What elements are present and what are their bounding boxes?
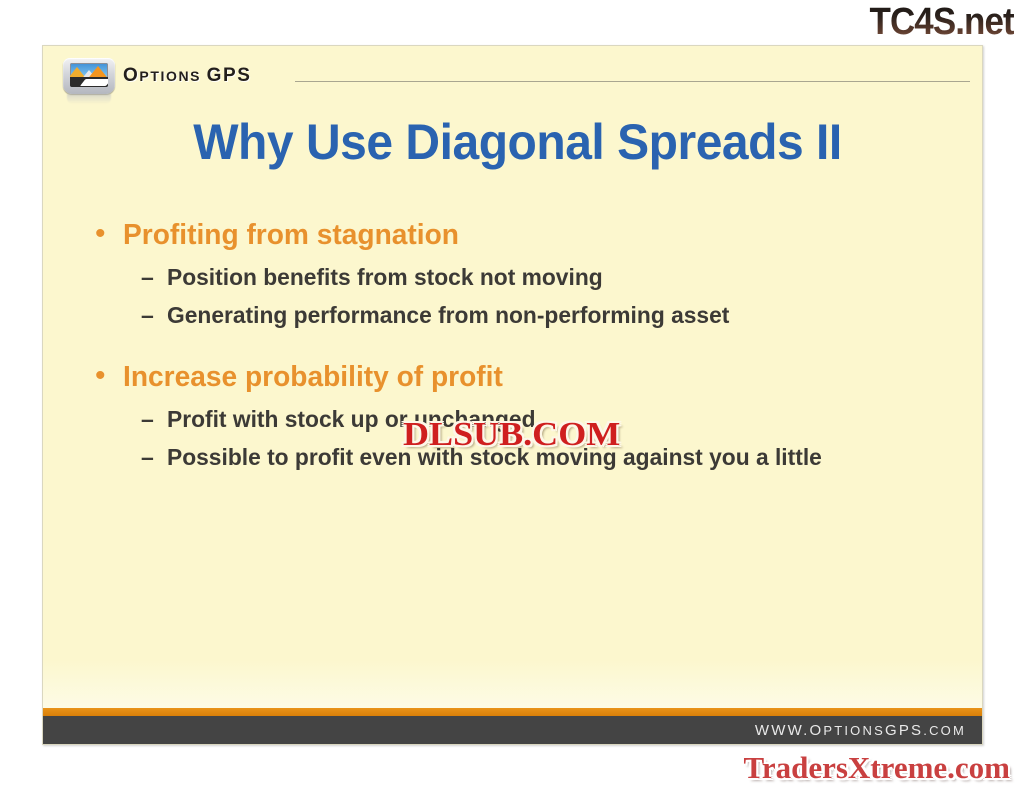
sub-bullet-label: Generating performance from non-performi…	[167, 298, 729, 332]
bullet-label: Increase probability of profit	[123, 358, 503, 396]
gps-device-icon	[63, 58, 115, 98]
bullet-label: Profiting from stagnation	[123, 216, 459, 254]
footer-url-com: COM	[929, 723, 966, 738]
bullet-marker-icon: •	[95, 216, 123, 252]
bullet-item-level2: – Position benefits from stock not movin…	[141, 260, 952, 294]
bullet-group: • Profiting from stagnation – Position b…	[95, 216, 952, 332]
footer-url-rest: PTIONS	[823, 723, 885, 738]
slide-header: OPTIONS GPS	[43, 46, 982, 104]
dash-marker-icon: –	[141, 402, 167, 436]
footer-url: WWW.OPTIONSGPS.COM	[755, 722, 966, 739]
footer-url-lead: WWW.	[755, 722, 810, 739]
slide-footer: WWW.OPTIONSGPS.COM	[43, 716, 982, 745]
tradersxtreme-watermark: TradersXtreme.com	[743, 751, 1010, 785]
footer-url-mid: O	[809, 722, 823, 739]
bullet-item-level1: • Increase probability of profit	[95, 358, 952, 396]
dlsub-watermark: DLSUB.COM	[403, 418, 620, 452]
footer-url-gps: GPS	[885, 722, 923, 739]
tc4s-watermark: TC4S.net	[870, 2, 1014, 42]
logo-reflection	[67, 94, 111, 104]
bullet-marker-icon: •	[95, 358, 123, 394]
dash-marker-icon: –	[141, 440, 167, 474]
bullet-item-level2: – Generating performance from non-perfor…	[141, 298, 952, 332]
bullet-item-level1: • Profiting from stagnation	[95, 216, 952, 254]
accent-bar	[43, 708, 982, 716]
brand-name: OPTIONS GPS	[123, 65, 252, 87]
brand-name-tail: GPS	[207, 65, 252, 86]
logo-screen	[70, 63, 108, 87]
dash-marker-icon: –	[141, 298, 167, 332]
header-divider	[295, 81, 970, 82]
dash-marker-icon: –	[141, 260, 167, 294]
brand-name-lead: O	[123, 65, 139, 86]
presentation-slide: OPTIONS GPS Why Use Diagonal Spreads II …	[42, 45, 983, 745]
page-title: Why Use Diagonal Spreads II	[91, 113, 944, 171]
logo-lane-marking	[80, 79, 108, 86]
brand-name-rest: PTIONS	[139, 68, 206, 84]
sub-bullet-label: Position benefits from stock not moving	[167, 260, 603, 294]
